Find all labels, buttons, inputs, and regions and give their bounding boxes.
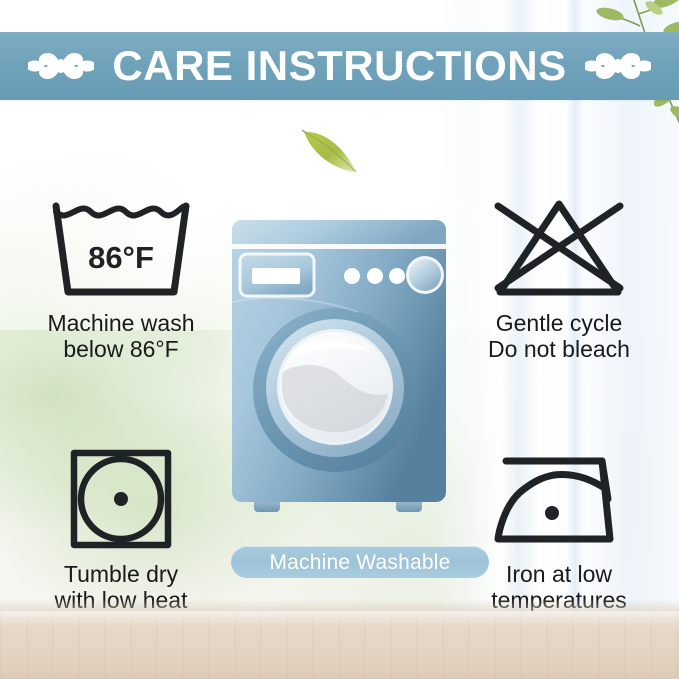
wash-temperature-value: 86°F xyxy=(88,240,154,275)
control-indicator-lights xyxy=(344,268,405,284)
wash-basin-icon: 86°F xyxy=(46,196,196,301)
badge-label: Machine Washable xyxy=(269,552,450,573)
symbol-machine-wash: 86°F Machine wash below 86°F xyxy=(14,196,228,363)
washer-door xyxy=(253,308,417,472)
fleur-de-lis-ornament xyxy=(28,44,94,88)
iron-icon xyxy=(484,447,634,552)
symbol-caption: Gentle cycle Do not bleach xyxy=(488,311,630,363)
symbol-iron-low: Iron at low temperatures xyxy=(452,447,666,614)
control-knob xyxy=(406,256,444,294)
fleur-de-lis-ornament xyxy=(585,44,651,88)
banner: CARE INSTRUCTIONS xyxy=(0,32,679,100)
machine-washable-badge: Machine Washable xyxy=(231,546,489,578)
machine-top xyxy=(232,220,446,244)
tumble-dry-icon xyxy=(66,447,176,552)
symbol-tumble-dry: Tumble dry with low heat xyxy=(14,447,228,614)
detergent-drawer xyxy=(240,254,314,296)
care-instructions-graphic: CARE INSTRUCTIONS xyxy=(0,0,679,679)
wood-surface-edge xyxy=(0,599,679,611)
crossed-triangle-icon xyxy=(484,196,634,301)
heat-level-dot xyxy=(114,492,128,506)
front-load-washing-machine xyxy=(228,212,450,532)
symbol-do-not-bleach: Gentle cycle Do not bleach xyxy=(452,196,666,363)
wood-surface xyxy=(0,611,679,679)
page-title: CARE INSTRUCTIONS xyxy=(112,45,566,87)
heat-level-dot xyxy=(545,506,559,520)
symbol-caption: Machine wash below 86°F xyxy=(47,311,194,363)
